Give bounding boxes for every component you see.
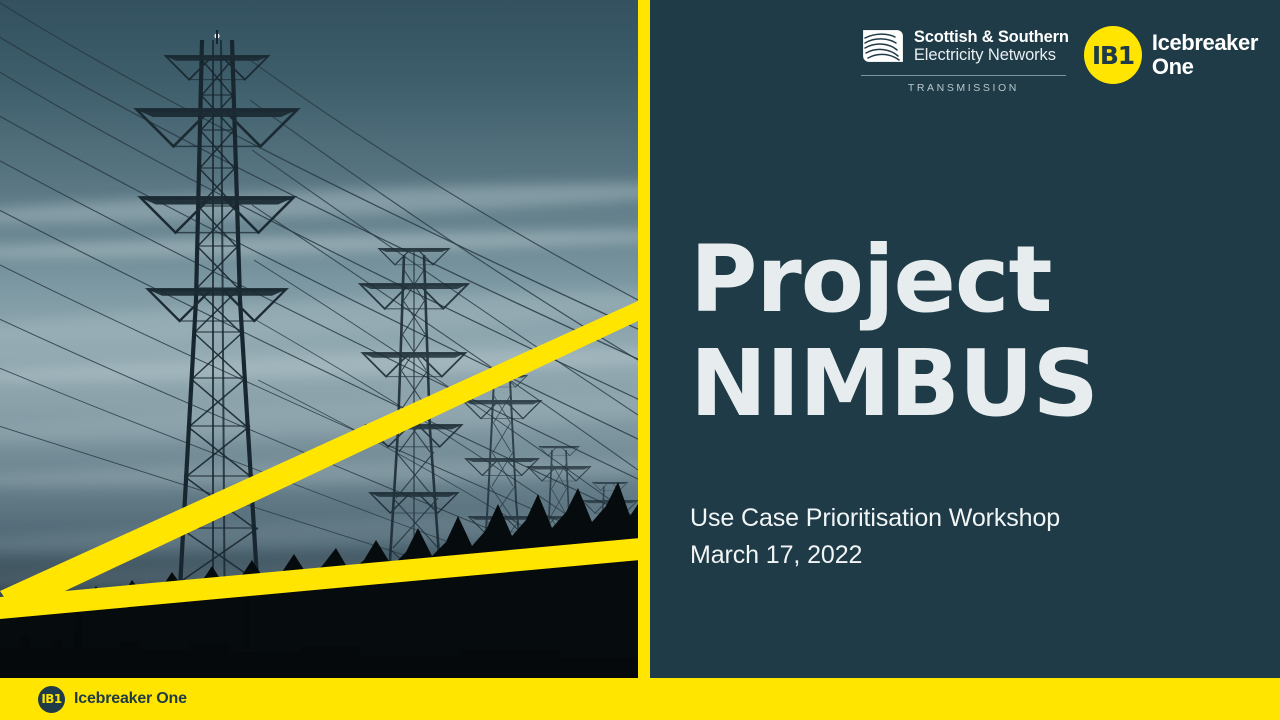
ssen-divider (861, 75, 1066, 76)
footer-ib1-badge-icon: IB1 (38, 686, 65, 713)
subtitle-line-2: March 17, 2022 (690, 537, 1250, 574)
logo-row: Scottish & Southern Electricity Networks… (861, 24, 1258, 94)
pylon-main (133, 30, 302, 660)
ssen-line-1: Scottish & Southern (914, 28, 1069, 46)
ib1-line-2: One (1152, 55, 1258, 79)
icebreaker-one-logo: IB1 Icebreaker One (1084, 26, 1258, 84)
title-line-2: NIMBUS (690, 332, 1260, 436)
content-panel: Scottish & Southern Electricity Networks… (650, 0, 1280, 678)
ssen-line-2: Electricity Networks (914, 46, 1069, 64)
footer-brand-label: Icebreaker One (74, 690, 187, 708)
ib1-wordmark: Icebreaker One (1152, 31, 1258, 78)
ib1-badge-label: IB1 (1092, 41, 1134, 70)
title-line-1: Project (690, 228, 1260, 332)
subtitle-line-1: Use Case Prioritisation Workshop (690, 500, 1250, 537)
yellow-vertical-bar (638, 0, 650, 678)
ssen-logo-top: Scottish & Southern Electricity Networks (861, 24, 1066, 68)
footer-ib1-badge-label: IB1 (41, 692, 61, 706)
ssen-division-label: TRANSMISSION (861, 82, 1066, 94)
pylon-illustration (0, 0, 638, 678)
ssen-logo: Scottish & Southern Electricity Networks… (861, 24, 1066, 94)
ib1-badge-icon: IB1 (1084, 26, 1142, 84)
ib1-line-1: Icebreaker (1152, 31, 1258, 55)
footer-bar: IB1 Icebreaker One (0, 678, 1280, 720)
slide-canvas: Scottish & Southern Electricity Networks… (0, 0, 1280, 720)
ssen-wave-mark (861, 24, 905, 68)
hero-photo (0, 0, 638, 678)
ssen-wordmark: Scottish & Southern Electricity Networks (914, 28, 1069, 65)
footer-icebreaker-one-logo: IB1 Icebreaker One (38, 686, 187, 713)
page-title: Project NIMBUS (690, 228, 1260, 436)
page-subtitle: Use Case Prioritisation Workshop March 1… (690, 500, 1250, 574)
